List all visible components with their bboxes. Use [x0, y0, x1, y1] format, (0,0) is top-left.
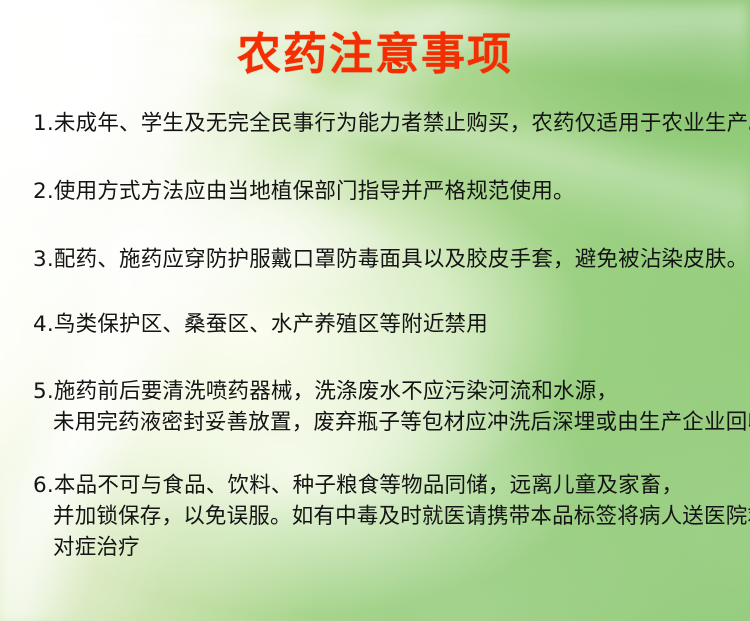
list-item-line: 6.本品不可与食品、饮料、种子粮食等物品同储，远离儿童及家畜，: [33, 470, 750, 501]
pesticide-precautions-poster: 农药注意事项 1.未成年、学生及无完全民事行为能力者禁止购买，农药仅适用于农业生…: [0, 0, 750, 621]
list-item: 2.使用方式方法应由当地植保部门指导并严格规范使用。: [0, 176, 750, 207]
list-item-line: 未用完药液密封妥善放置，废弃瓶子等包材应冲洗后深埋或由生产企业回收。: [33, 407, 750, 438]
list-item-line: 对症治疗: [33, 532, 750, 563]
list-item: 3.配药、施药应穿防护服戴口罩防毒面具以及胶皮手套，避免被沾染皮肤。: [0, 244, 750, 275]
list-item: 6.本品不可与食品、饮料、种子粮食等物品同储，远离儿童及家畜， 并加锁保存，以免…: [0, 470, 750, 563]
list-item-line: 3.配药、施药应穿防护服戴口罩防毒面具以及胶皮手套，避免被沾染皮肤。: [33, 244, 750, 275]
list-item: 5.施药前后要清洗喷药器械，洗涤废水不应污染河流和水源， 未用完药液密封妥善放置…: [0, 376, 750, 438]
page-title: 农药注意事项: [0, 27, 750, 83]
poster-content: 农药注意事项 1.未成年、学生及无完全民事行为能力者禁止购买，农药仅适用于农业生…: [0, 0, 750, 621]
list-item: 1.未成年、学生及无完全民事行为能力者禁止购买，农药仅适用于农业生产。: [0, 108, 750, 139]
list-item-line: 2.使用方式方法应由当地植保部门指导并严格规范使用。: [33, 176, 750, 207]
list-item-line: 5.施药前后要清洗喷药器械，洗涤废水不应污染河流和水源，: [33, 376, 750, 407]
list-item: 4.鸟类保护区、桑蚕区、水产养殖区等附近禁用: [0, 309, 750, 340]
list-item-line: 4.鸟类保护区、桑蚕区、水产养殖区等附近禁用: [33, 309, 750, 340]
list-item-line: 1.未成年、学生及无完全民事行为能力者禁止购买，农药仅适用于农业生产。: [33, 108, 750, 139]
precautions-list: 1.未成年、学生及无完全民事行为能力者禁止购买，农药仅适用于农业生产。 2.使用…: [0, 108, 750, 563]
list-item-line: 并加锁保存，以免误服。如有中毒及时就医请携带本品标签将病人送医院救治: [33, 501, 750, 532]
